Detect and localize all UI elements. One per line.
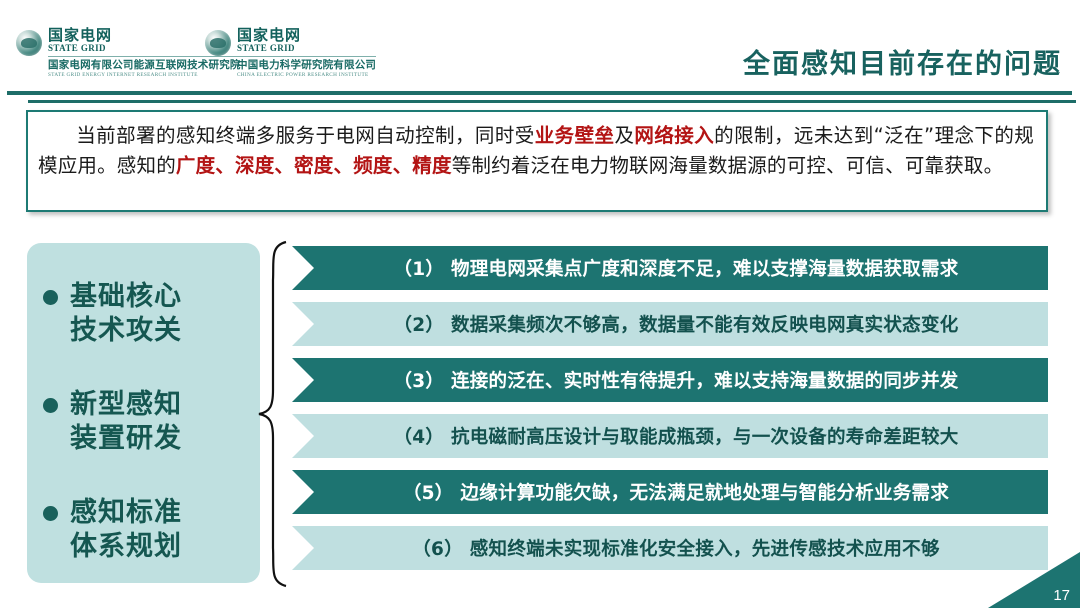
- logo-cn-sub: 中国电力科学研究院有限公司: [237, 60, 376, 71]
- category-label: 基础核心 技术攻关: [70, 279, 182, 347]
- page-number: 17: [1053, 587, 1070, 604]
- issue-row-1[interactable]: （1） 物理电网采集点广度和深度不足，难以支撑海量数据获取需求: [292, 246, 1048, 290]
- page-title: 全面感知目前存在的问题: [743, 42, 1062, 81]
- category-label: 新型感知 装置研发: [70, 387, 182, 455]
- category-item-2[interactable]: 感知标准 体系规划: [27, 495, 260, 563]
- issue-list: （1） 物理电网采集点广度和深度不足，难以支撑海量数据获取需求 （2） 数据采集…: [292, 246, 1048, 588]
- issue-text: （3） 连接的泛在、实时性有待提升，难以支持海量数据的同步并发: [292, 367, 1048, 393]
- slide-header: 国家电网 STATE GRID 国家电网有限公司能源互联网技术研究院 STATE…: [0, 0, 1080, 96]
- issue-text: （4） 抗电磁耐高压设计与取能成瓶颈，与一次设备的寿命差距较大: [292, 423, 1048, 449]
- summary-paragraph-box: 当前部署的感知终端多服务于电网自动控制，同时受业务壁垒及网络接入的限制，远未达到…: [26, 110, 1048, 212]
- state-grid-globe-icon: [205, 30, 231, 56]
- issue-text: （6） 感知终端未实现标准化安全接入，先进传感技术应用不够: [292, 535, 1048, 561]
- header-divider-bottom: [28, 100, 1076, 103]
- issue-row-5[interactable]: （5） 边缘计算功能欠缺，无法满足就地处理与智能分析业务需求: [292, 470, 1048, 514]
- bullet-icon: [43, 398, 58, 413]
- bullet-icon: [43, 290, 58, 305]
- bullet-icon: [43, 506, 58, 521]
- issue-row-4[interactable]: （4） 抗电磁耐高压设计与取能成瓶颈，与一次设备的寿命差距较大: [292, 414, 1048, 458]
- category-panel: 基础核心 技术攻关 新型感知 装置研发 感知标准 体系规划: [27, 243, 260, 583]
- issue-text: （5） 边缘计算功能欠缺，无法满足就地处理与智能分析业务需求: [292, 479, 1048, 505]
- issue-text: （2） 数据采集频次不够高，数据量不能有效反映电网真实状态变化: [292, 311, 1048, 337]
- issue-row-6[interactable]: （6） 感知终端未实现标准化安全接入，先进传感技术应用不够: [292, 526, 1048, 570]
- header-divider-top: [7, 91, 1072, 95]
- page-corner: 17: [988, 552, 1080, 608]
- logo-en-sub: CHINA ELECTRIC POWER RESEARCH INSTITUTE: [237, 73, 376, 78]
- issue-row-3[interactable]: （3） 连接的泛在、实时性有待提升，难以支持海量数据的同步并发: [292, 358, 1048, 402]
- category-label: 感知标准 体系规划: [70, 495, 182, 563]
- logo-divider: [237, 56, 376, 57]
- state-grid-globe-icon: [16, 30, 42, 56]
- category-item-1[interactable]: 新型感知 装置研发: [27, 387, 260, 455]
- logo-en-main: STATE GRID: [237, 44, 376, 53]
- issue-text: （1） 物理电网采集点广度和深度不足，难以支撑海量数据获取需求: [292, 255, 1048, 281]
- issue-row-2[interactable]: （2） 数据采集频次不够高，数据量不能有效反映电网真实状态变化: [292, 302, 1048, 346]
- logo-cepri: 国家电网 STATE GRID 中国电力科学研究院有限公司 CHINA ELEC…: [205, 28, 376, 78]
- logo-cn-main: 国家电网: [237, 28, 376, 43]
- summary-paragraph-text: 当前部署的感知终端多服务于电网自动控制，同时受业务壁垒及网络接入的限制，远未达到…: [38, 121, 1034, 181]
- category-item-0[interactable]: 基础核心 技术攻关: [27, 279, 260, 347]
